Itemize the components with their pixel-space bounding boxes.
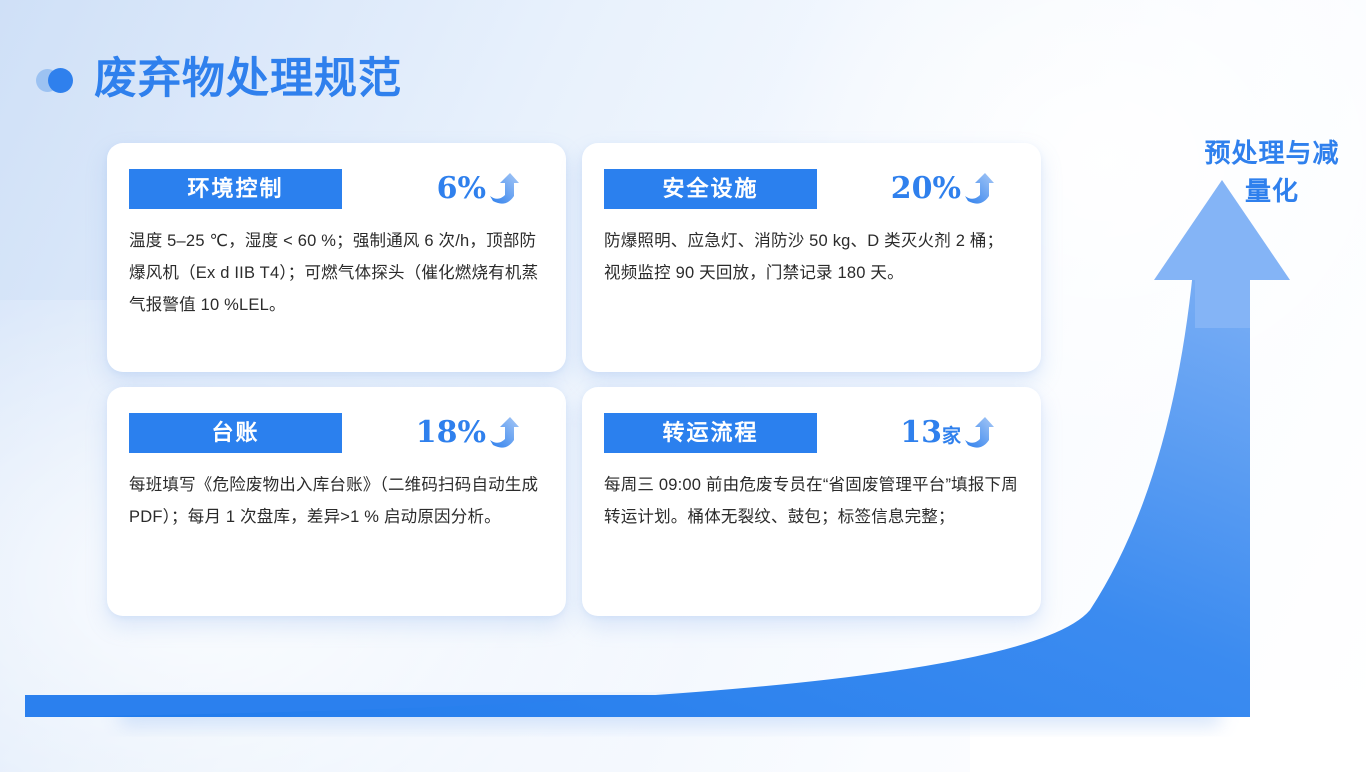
curved-up-arrow-icon bbox=[961, 171, 997, 207]
card-metric: 6% bbox=[437, 171, 544, 207]
baseline-bar bbox=[25, 695, 970, 717]
card-body-text: 温度 5–25 ℃，湿度 < 60 %；强制通风 6 次/h，顶部防爆风机（Ex… bbox=[129, 225, 544, 321]
card-body-text: 每班填写《危险废物出入库台账》（二维码扫码自动生成 PDF）；每月 1 次盘库，… bbox=[129, 469, 544, 533]
card-metric: 13家 bbox=[900, 415, 1019, 451]
two-circles-icon bbox=[36, 67, 80, 93]
card-header: 安全设施 20% bbox=[604, 167, 1019, 211]
card-header: 台账 18% bbox=[129, 411, 544, 455]
card-environment-control[interactable]: 环境控制 6% 温度 5–25 ℃，湿度 < 60 %；强制通风 6 bbox=[107, 143, 566, 372]
cards-grid: 环境控制 6% 温度 5–25 ℃，湿度 < 60 %；强制通风 6 bbox=[107, 143, 1041, 616]
bottom-right-white-panel bbox=[970, 690, 1366, 772]
card-tag-label: 安全设施 bbox=[604, 169, 817, 209]
page-title-text: 废弃物处理规范 bbox=[94, 58, 402, 101]
page-title: 废弃物处理规范 bbox=[36, 58, 402, 101]
card-metric: 20% bbox=[891, 171, 1019, 207]
card-metric-value: 20% bbox=[891, 174, 961, 204]
growth-arrow-label-line2: 量化 bbox=[1192, 173, 1352, 211]
curved-up-arrow-icon bbox=[486, 171, 522, 207]
slide-root: 废弃物处理规范 环境控制 6% bbox=[0, 0, 1366, 772]
card-header: 转运流程 13家 bbox=[604, 411, 1019, 455]
card-body-text: 防爆照明、应急灯、消防沙 50 kg、D 类灭火剂 2 桶；视频监控 90 天回… bbox=[604, 225, 1019, 289]
card-header: 环境控制 6% bbox=[129, 167, 544, 211]
card-tag-label: 转运流程 bbox=[604, 413, 817, 453]
card-transfer-process[interactable]: 转运流程 13家 每周三 09:00 前由危废专员在“省固废管理平台”填报下周转… bbox=[582, 387, 1041, 616]
curved-up-arrow-icon bbox=[961, 415, 997, 451]
card-metric-value: 6% bbox=[437, 174, 486, 204]
circle-front-icon bbox=[48, 68, 73, 93]
card-metric: 18% bbox=[416, 415, 544, 451]
arrow-head-neck bbox=[1195, 258, 1250, 328]
card-safety-facilities[interactable]: 安全设施 20% 防爆照明、应急灯、消防沙 50 kg、D 类灭火剂 2 桶；视… bbox=[582, 143, 1041, 372]
card-ledger[interactable]: 台账 18% 每班填写《危险废物出入库台账》（二维码扫码自动生成 PDF）；每月… bbox=[107, 387, 566, 616]
card-metric-value: 13家 bbox=[900, 418, 961, 448]
growth-arrow-label-line1: 预处理与减 bbox=[1192, 135, 1352, 173]
card-metric-value: 18% bbox=[416, 418, 486, 448]
curved-up-arrow-icon bbox=[486, 415, 522, 451]
card-body-text: 每周三 09:00 前由危废专员在“省固废管理平台”填报下周转运计划。桶体无裂纹… bbox=[604, 469, 1019, 533]
growth-arrow-label: 预处理与减 量化 bbox=[1192, 135, 1352, 211]
card-tag-label: 台账 bbox=[129, 413, 342, 453]
card-tag-label: 环境控制 bbox=[129, 169, 342, 209]
